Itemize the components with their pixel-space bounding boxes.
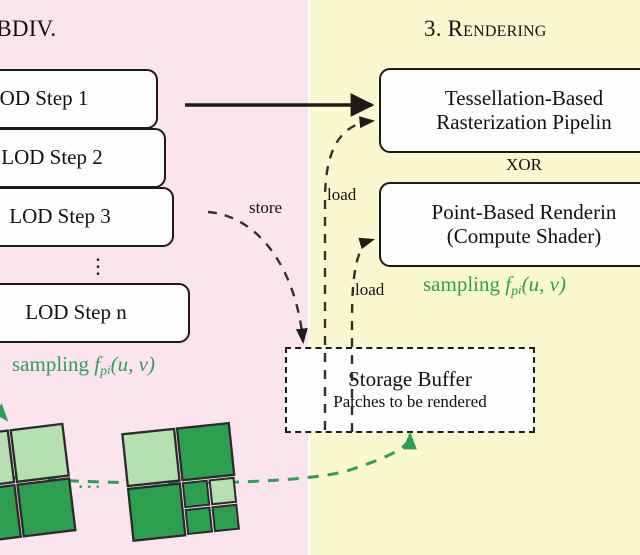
tessellation-box-line2: Rasterization Pipelin <box>436 111 612 135</box>
edge-label-load-bottom: load <box>355 280 384 300</box>
storage-buffer-title: Storage Buffer <box>348 367 472 391</box>
tessellation-rasterization-box[interactable]: Tessellation-Based Rasterization Pipelin <box>379 68 640 153</box>
sampling-p-left: p <box>100 363 107 378</box>
edge-label-store: store <box>249 198 282 218</box>
lod-step-label-n: LOD Step n <box>25 301 127 325</box>
panel-title-rendering-word: Rendering <box>448 16 547 41</box>
xor-label: XOR <box>379 155 640 175</box>
panel-title-rendering-number: 3. <box>424 16 442 41</box>
lod-step-box-1[interactable]: OD Step 1 <box>0 69 158 129</box>
tessellation-box-line1: Tessellation-Based <box>445 87 603 111</box>
patch-sequence-ellipsis: ... <box>78 470 104 492</box>
panel-title-patch-subdivision: TCH SUBDIV. <box>0 16 56 42</box>
lod-step-label-1: OD Step 1 <box>0 87 88 111</box>
panel-title-rendering: 3. Rendering <box>424 16 547 42</box>
sampling-p-right: p <box>511 283 518 298</box>
sampling-word-right: sampling <box>423 272 500 296</box>
point-box-line2: (Compute Shader) <box>447 225 602 249</box>
sampling-word-left: sampling <box>12 352 89 376</box>
lod-step-box-3[interactable]: LOD Step 3 <box>0 187 174 247</box>
storage-buffer-subtitle: Patches to be rendered <box>333 391 486 413</box>
sampling-label-left: sampling fpi(u, v) <box>12 352 155 379</box>
lod-step-box-n[interactable]: LOD Step n <box>0 283 190 343</box>
sampling-args-left: (u, v) <box>111 352 155 376</box>
sampling-label-right: sampling fpi(u, v) <box>423 272 566 299</box>
point-based-rendering-box[interactable]: Point-Based Renderin (Compute Shader) <box>379 182 640 267</box>
vertical-ellipsis-icon: ... <box>88 250 108 271</box>
sampling-args-right: (u, v) <box>522 272 566 296</box>
lod-step-label-3: LOD Step 3 <box>9 205 111 229</box>
point-box-line1: Point-Based Renderin <box>432 201 617 225</box>
lod-step-box-2[interactable]: LOD Step 2 <box>0 128 166 188</box>
storage-buffer-box[interactable]: Storage Buffer Patches to be rendered <box>285 347 535 433</box>
diagram-canvas: TCH SUBDIV. 3. Rendering OD Step 1 LOD S… <box>0 0 640 555</box>
lod-step-label-2: LOD Step 2 <box>1 146 103 170</box>
edge-label-load-top: load <box>327 185 356 205</box>
